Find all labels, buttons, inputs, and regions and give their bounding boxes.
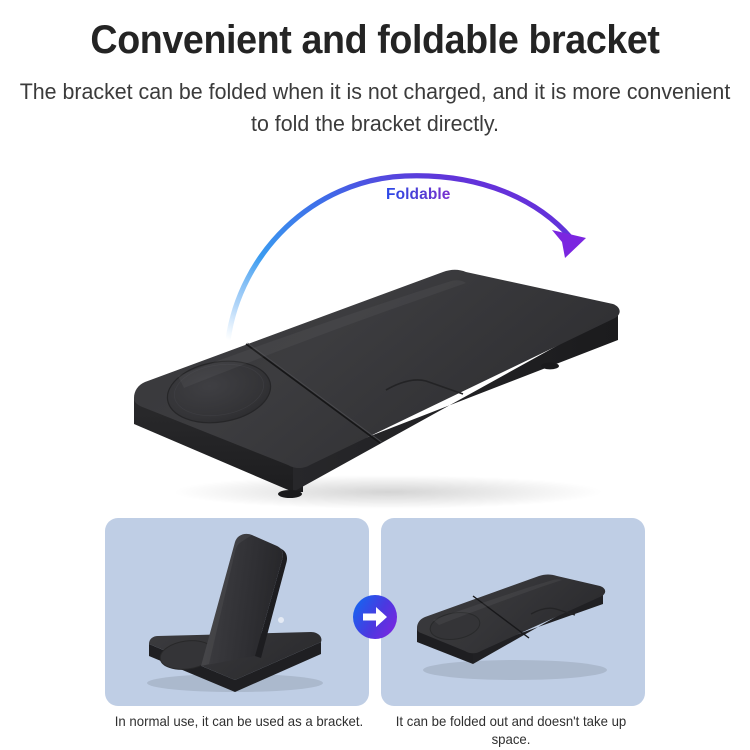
page-subtitle: The bracket can be folded when it is not… [19, 64, 732, 140]
panel2-shadow [423, 660, 607, 680]
panel-unfolded [105, 518, 369, 706]
step-arrow-badge [352, 594, 398, 640]
panel-captions-row: In normal use, it can be used as a brack… [105, 713, 645, 750]
panel1-led-indicator [278, 617, 284, 623]
hero-foot-right [541, 363, 559, 370]
stand-unfolded-illustration [105, 518, 369, 706]
page-title: Convenient and foldable bracket [23, 0, 728, 64]
hero-product-svg [118, 248, 638, 516]
hero-foot-left [278, 490, 302, 498]
stand-folded-illustration [381, 518, 645, 706]
hero-product-image [118, 248, 638, 516]
foldable-label: Foldable [386, 186, 451, 204]
panel-folded [381, 518, 645, 706]
arrow-right-icon [352, 594, 398, 640]
hero-ground-shadow [173, 475, 603, 509]
header-block: Convenient and foldable bracket The brac… [0, 0, 750, 140]
caption-folded: It can be folded out and doesn't take up… [381, 713, 641, 750]
caption-unfolded: In normal use, it can be used as a brack… [109, 713, 369, 750]
